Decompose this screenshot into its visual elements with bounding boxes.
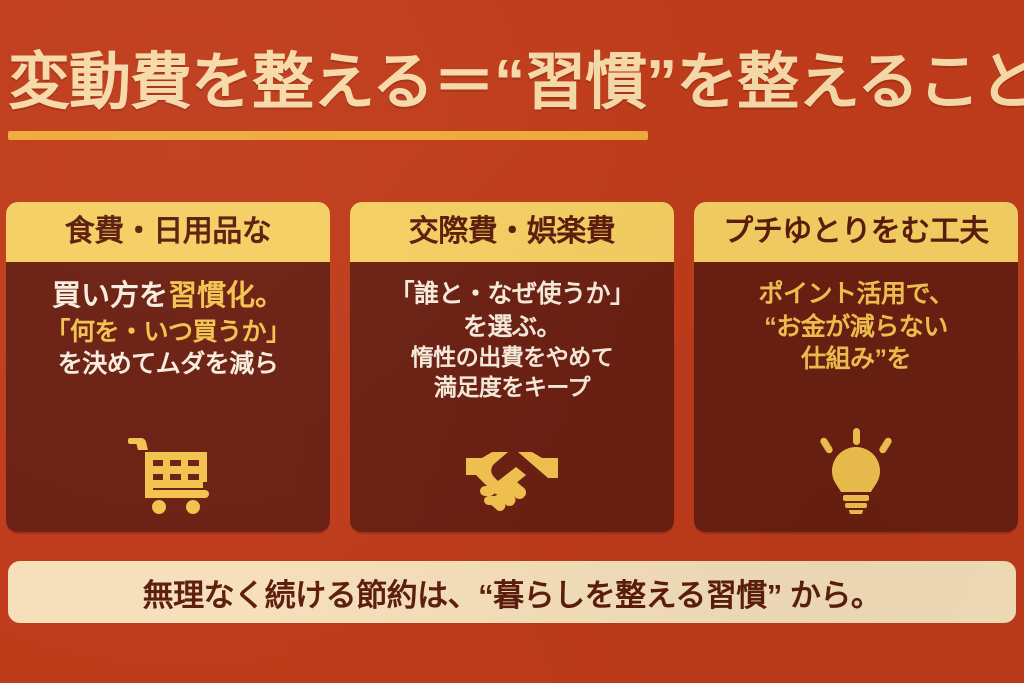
card-text-lines: 買い方を習慣化。 「何を・いつ買うか」 を決めてムダを減ら: [45, 278, 290, 381]
slide-canvas: 変動費を整える＝“習慣”を整えること 食費・日用品な 買い方を習慣化。 「何を・…: [0, 0, 1024, 683]
card-social-entertainment[interactable]: 交際費・娯楽費 「誰と・なぜ使うか」 を選ぶ。 惰性の出費をやめて 満足度をキー…: [350, 202, 674, 532]
title-underline-rule: [8, 131, 648, 140]
lightbulb-icon: [814, 428, 898, 514]
card-line-segment: 習慣化。: [168, 280, 284, 312]
page-title: 変動費を整える＝“習慣”を整えること: [8, 52, 1016, 114]
card-food-daily-goods[interactable]: 食費・日用品な 買い方を習慣化。 「何を・いつ買うか」 を決めてムダを減ら: [6, 202, 330, 532]
card-body: 買い方を習慣化。 「何を・いつ買うか」 を決めてムダを減ら: [6, 262, 330, 532]
card-header-label: 交際費・娯楽費: [350, 202, 674, 262]
card-line: 買い方を習慣化。: [45, 278, 290, 316]
card-line: 「何を・いつ買うか」: [45, 316, 290, 349]
card-line: 仕組み”を: [758, 343, 953, 376]
handshake-icon: [464, 442, 560, 514]
card-text-lines: 「誰と・なぜ使うか」 を選ぶ。 惰性の出費をやめて 満足度をキープ: [389, 278, 634, 403]
title-block: 変動費を整える＝“習慣”を整えること: [8, 52, 1016, 140]
card-header-label: プチゆとりをむ工夫: [694, 202, 1018, 262]
footer-message: 無理なく続ける節約は、“暮らしを整える習慣” から。: [143, 570, 882, 615]
card-line-segment: 買い方を: [52, 280, 168, 312]
card-line: を選ぶ。: [389, 311, 634, 344]
card-line: を決めてムダを減ら: [45, 348, 290, 381]
card-line: ポイント活用で、: [758, 278, 953, 311]
card-body: 「誰と・なぜ使うか」 を選ぶ。 惰性の出費をやめて 満足度をキープ: [350, 262, 674, 532]
shopping-cart-icon: [125, 432, 211, 514]
card-header-label: 食費・日用品な: [6, 202, 330, 262]
card-line: 惰性の出費をやめて: [389, 343, 634, 373]
card-row: 食費・日用品な 買い方を習慣化。 「何を・いつ買うか」 を決めてムダを減ら: [6, 202, 1018, 532]
card-line: 「誰と・なぜ使うか」: [389, 278, 634, 311]
card-small-luxury-tips[interactable]: プチゆとりをむ工夫 ポイント活用で、 “お金が減らない 仕組み”を: [694, 202, 1018, 532]
card-text-lines: ポイント活用で、 “お金が減らない 仕組み”を: [758, 278, 953, 376]
card-line: 満足度をキープ: [389, 373, 634, 403]
card-line: “お金が減らない: [758, 311, 953, 344]
footer-banner: 無理なく続ける節約は、“暮らしを整える習慣” から。: [8, 561, 1016, 623]
card-body: ポイント活用で、 “お金が減らない 仕組み”を: [694, 262, 1018, 532]
